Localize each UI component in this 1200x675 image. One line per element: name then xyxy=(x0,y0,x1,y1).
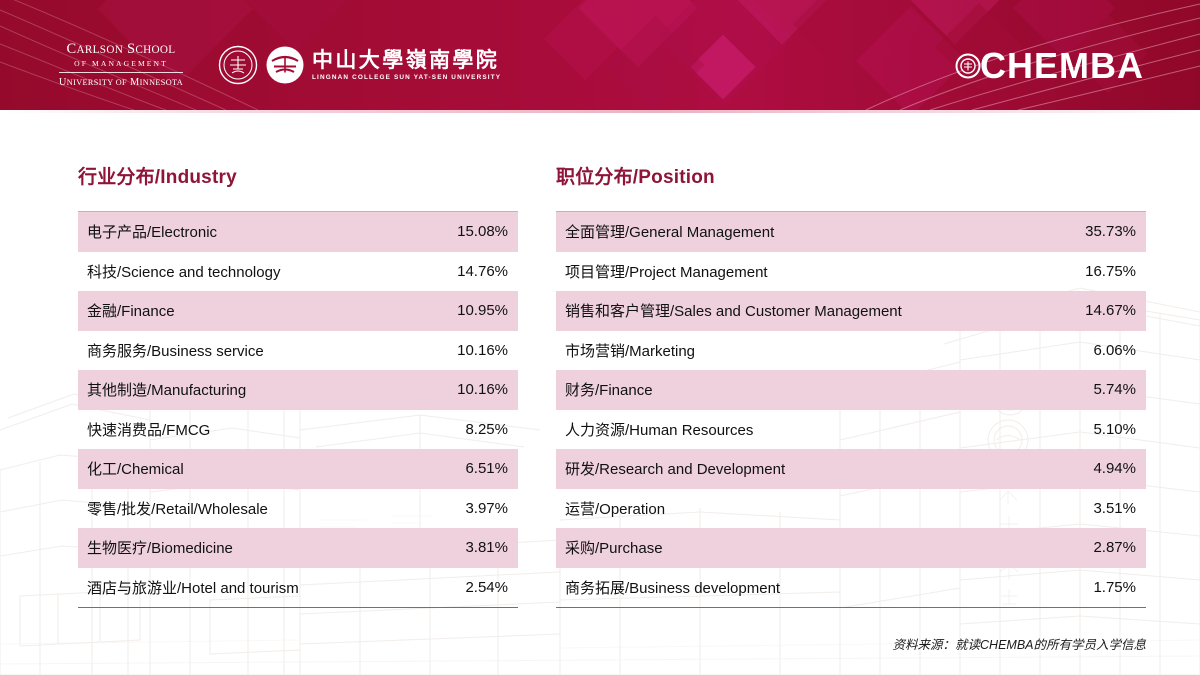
slide: CARLSON SCHOOL OF MANAGEMENT UNIVERSITY … xyxy=(0,0,1200,675)
industry-label: 其他制造/Manufacturing xyxy=(87,379,246,400)
table-row: 化工/Chemical 6.51% xyxy=(78,449,518,489)
position-value: 2.87% xyxy=(1093,539,1136,556)
industry-table: 电子产品/Electronic 15.08% 科技/Science and te… xyxy=(78,211,518,608)
chemba-wordmark: CHEMBA xyxy=(980,48,1144,84)
position-label: 销售和客户管理/Sales and Customer Management xyxy=(565,300,902,321)
industry-value: 8.25% xyxy=(465,421,508,438)
position-panel-title: 职位分布/Position xyxy=(556,162,1146,189)
table-row: 科技/Science and technology 14.76% xyxy=(78,252,518,292)
industry-label: 酒店与旅游业/Hotel and tourism xyxy=(87,577,299,598)
industry-panel: 行业分布/Industry 电子产品/Electronic 15.08% 科技/… xyxy=(78,162,518,608)
position-value: 5.74% xyxy=(1093,381,1136,398)
lingnan-logo-text: 中山大學嶺南學院 LINGNAN COLLEGE SUN YAT-SEN UNI… xyxy=(312,49,501,81)
header-banner: CARLSON SCHOOL OF MANAGEMENT UNIVERSITY … xyxy=(0,0,1200,110)
carlson-logo-line3: UNIVERSITY OF MINNESOTA xyxy=(57,77,185,88)
position-value: 35.73% xyxy=(1085,223,1136,240)
position-value: 5.10% xyxy=(1093,421,1136,438)
table-row: 其他制造/Manufacturing 10.16% xyxy=(78,370,518,410)
chemba-emblem-icon xyxy=(955,53,981,79)
table-row: 电子产品/Electronic 15.08% xyxy=(78,212,518,252)
position-label: 采购/Purchase xyxy=(565,537,663,558)
industry-value: 10.95% xyxy=(457,302,508,319)
carlson-logo-line1: CARLSON SCHOOL xyxy=(57,42,185,57)
industry-value: 14.76% xyxy=(457,263,508,280)
position-label: 全面管理/General Management xyxy=(565,221,774,242)
lingnan-logo-chinese: 中山大學嶺南學院 xyxy=(312,49,501,71)
industry-value: 10.16% xyxy=(457,381,508,398)
industry-label: 金融/Finance xyxy=(87,300,175,321)
industry-panel-title: 行业分布/Industry xyxy=(78,162,518,189)
table-row: 项目管理/Project Management 16.75% xyxy=(556,252,1146,292)
position-value: 3.51% xyxy=(1093,500,1136,517)
industry-value: 10.16% xyxy=(457,342,508,359)
industry-label: 电子产品/Electronic xyxy=(87,221,217,242)
table-row: 运营/Operation 3.51% xyxy=(556,489,1146,529)
table-row: 人力资源/Human Resources 5.10% xyxy=(556,410,1146,450)
industry-label: 化工/Chemical xyxy=(87,458,184,479)
table-row: 商务服务/Business service 10.16% xyxy=(78,331,518,371)
table-row: 酒店与旅游业/Hotel and tourism 2.54% xyxy=(78,568,518,608)
industry-value: 3.97% xyxy=(465,500,508,517)
carlson-school-logo: CARLSON SCHOOL OF MANAGEMENT UNIVERSITY … xyxy=(57,42,185,88)
table-row: 快速消费品/FMCG 8.25% xyxy=(78,410,518,450)
source-note: 资料来源：就读CHEMBA的所有学员入学信息 xyxy=(893,634,1146,653)
industry-label: 商务服务/Business service xyxy=(87,340,264,361)
table-row: 财务/Finance 5.74% xyxy=(556,370,1146,410)
industry-label: 科技/Science and technology xyxy=(87,261,280,282)
table-row: 商务拓展/Business development 1.75% xyxy=(556,568,1146,608)
lingnan-college-logo: 中山大學嶺南學院 LINGNAN COLLEGE SUN YAT-SEN UNI… xyxy=(218,43,501,87)
position-panel: 职位分布/Position 全面管理/General Management 35… xyxy=(556,162,1146,608)
position-label: 财务/Finance xyxy=(565,379,653,400)
position-label: 市场营销/Marketing xyxy=(565,340,695,361)
position-label: 项目管理/Project Management xyxy=(565,261,768,282)
position-label: 运营/Operation xyxy=(565,498,665,519)
carlson-logo-line2: OF MANAGEMENT xyxy=(57,59,185,68)
industry-value: 3.81% xyxy=(465,539,508,556)
position-value: 16.75% xyxy=(1085,263,1136,280)
table-row: 研发/Research and Development 4.94% xyxy=(556,449,1146,489)
industry-value: 2.54% xyxy=(465,579,508,596)
sysu-seal-icon xyxy=(218,45,258,85)
position-label: 商务拓展/Business development xyxy=(565,577,780,598)
industry-label: 生物医疗/Biomedicine xyxy=(87,537,233,558)
lingnan-logo-english: LINGNAN COLLEGE SUN YAT-SEN UNIVERSITY xyxy=(312,74,501,81)
position-label: 人力资源/Human Resources xyxy=(565,419,753,440)
chemba-logo: CHEMBA xyxy=(955,48,1144,84)
industry-label: 零售/批发/Retail/Wholesale xyxy=(87,498,268,519)
industry-value: 6.51% xyxy=(465,460,508,477)
position-value: 14.67% xyxy=(1085,302,1136,319)
carlson-logo-divider xyxy=(59,72,183,73)
lingnan-emblem-icon xyxy=(265,45,305,85)
slide-content: 行业分布/Industry 电子产品/Electronic 15.08% 科技/… xyxy=(0,110,1200,675)
position-value: 6.06% xyxy=(1093,342,1136,359)
table-row: 零售/批发/Retail/Wholesale 3.97% xyxy=(78,489,518,529)
industry-value: 15.08% xyxy=(457,223,508,240)
table-row: 金融/Finance 10.95% xyxy=(78,291,518,331)
table-row: 采购/Purchase 2.87% xyxy=(556,528,1146,568)
table-row: 市场营销/Marketing 6.06% xyxy=(556,331,1146,371)
table-row: 销售和客户管理/Sales and Customer Management 14… xyxy=(556,291,1146,331)
position-value: 1.75% xyxy=(1093,579,1136,596)
table-row: 生物医疗/Biomedicine 3.81% xyxy=(78,528,518,568)
position-label: 研发/Research and Development xyxy=(565,458,785,479)
position-value: 4.94% xyxy=(1093,460,1136,477)
table-row: 全面管理/General Management 35.73% xyxy=(556,212,1146,252)
industry-label: 快速消费品/FMCG xyxy=(87,419,210,440)
position-table: 全面管理/General Management 35.73% 项目管理/Proj… xyxy=(556,211,1146,608)
